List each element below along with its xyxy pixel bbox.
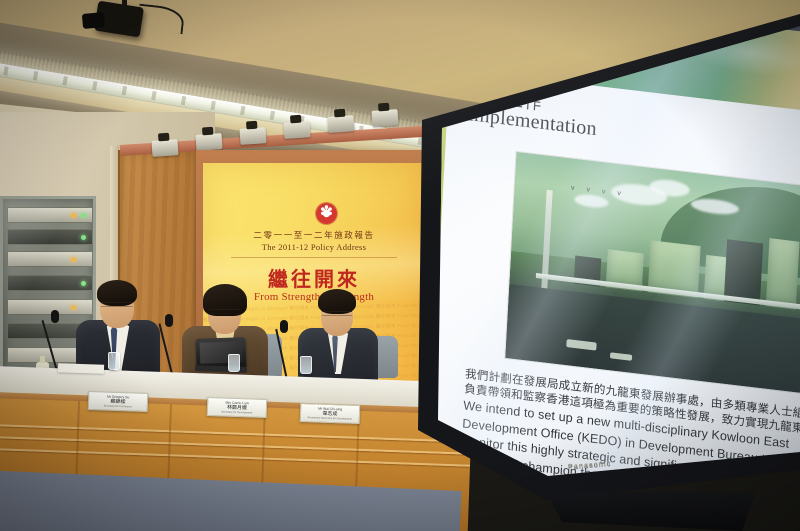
hong-kong-bauhinia-emblem-icon [316, 203, 337, 224]
presentation-display: 落實工作 Implementation v v v v [396, 0, 800, 531]
track-spotlight [327, 115, 354, 133]
backdrop-line-cn: 二零一一至一二年施政報告 [203, 229, 425, 241]
backdrop-line-en: The 2011-12 Policy Address [203, 242, 425, 252]
display-stand [546, 492, 756, 531]
papers [58, 363, 104, 374]
nameplate-title: Secretary for Development [208, 410, 266, 415]
water-glass [300, 356, 312, 374]
track-spotlight [195, 133, 222, 151]
microphone-head-icon [165, 314, 173, 327]
track-spotlight [151, 139, 178, 157]
water-glass [108, 352, 120, 370]
track-spotlight [283, 121, 310, 139]
track-spotlight [371, 109, 398, 127]
nameplate-title: Secretary for Commerce [89, 404, 147, 409]
eyeglasses-icon [209, 309, 240, 314]
nameplate: Mr Gregory So 蘇錦樑 Secretary for Commerce [88, 391, 149, 412]
ceiling-projector-icon [94, 1, 144, 38]
microphone-head-icon [280, 320, 288, 333]
backdrop-divider [231, 257, 397, 258]
nameplate: Mrs Carrie Lam 林鄭月娥 Secretary for Develo… [207, 397, 268, 418]
eyeglasses-icon [322, 311, 352, 316]
press-conference-photo: 二零一一至一二年施政報告 The 2011-12 Policy Address … [0, 0, 800, 531]
nameplate: Mr Wai Chi-sing 韋志成 Permanent Secretary … [300, 403, 361, 424]
water-glass [228, 354, 240, 372]
nameplate-title: Permanent Secretary for Development [301, 416, 359, 421]
eyeglasses-icon [101, 302, 133, 307]
microphone-head-icon [51, 310, 59, 323]
projector-cable [137, 4, 185, 35]
slide-page-number: 4 / 11 [436, 462, 456, 473]
track-spotlight [239, 127, 266, 145]
